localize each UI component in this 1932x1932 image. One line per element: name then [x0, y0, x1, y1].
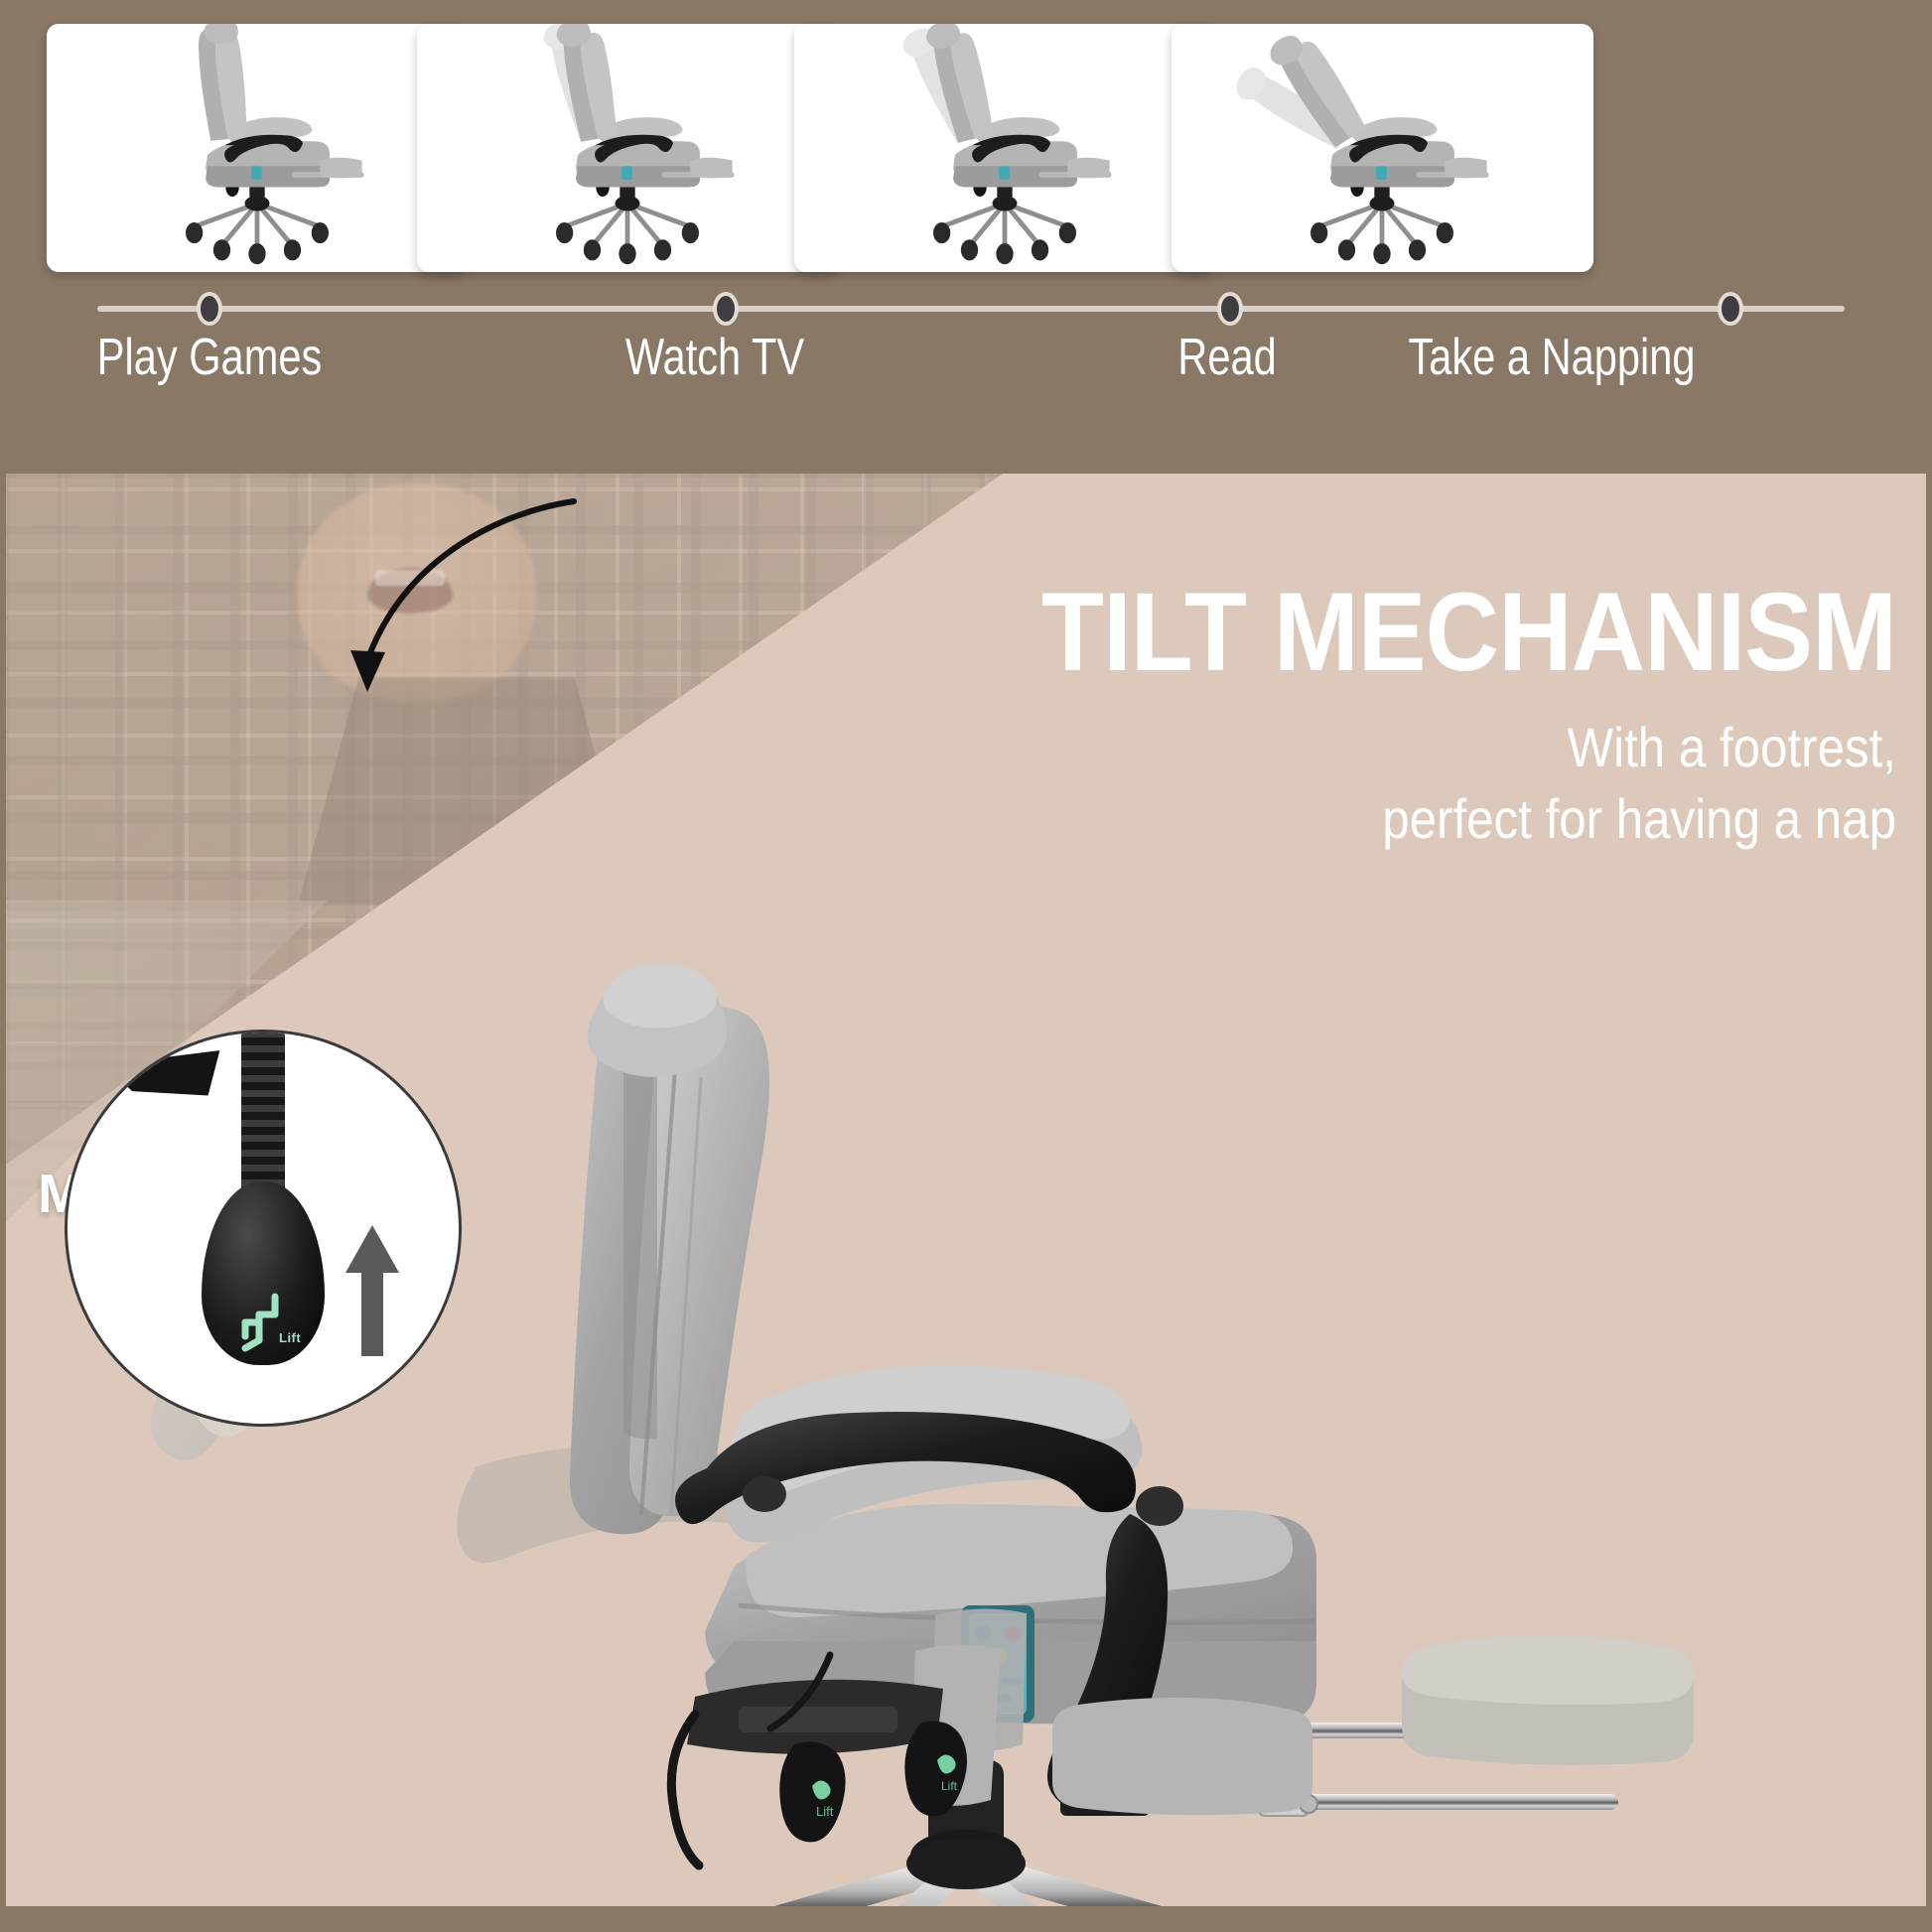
- timeline-rail: [97, 306, 1845, 312]
- subtitle-line-2: perfect for having a nap: [839, 785, 1896, 853]
- right-border-strip: [1926, 0, 1932, 1932]
- timeline-dot-2[interactable]: [713, 292, 739, 326]
- thumbnail-row: [0, 24, 1932, 274]
- main-stage: Max Angle: 135° TILT MECHANISM With a fo…: [0, 474, 1932, 1932]
- page-title: TILT MECHANISM: [791, 577, 1896, 688]
- lever-stem: [241, 1030, 285, 1201]
- timeline-label-row: Play Games Watch TV Read Take a Napping: [0, 328, 1932, 407]
- timeline-dot-1[interactable]: [197, 292, 222, 326]
- thumbnail-card-watch-tv[interactable]: [417, 24, 839, 272]
- svg-text:Lift: Lift: [816, 1804, 834, 1819]
- footrest-cushion: [1402, 1634, 1694, 1764]
- chair-reclined-max-icon: [1172, 24, 1593, 272]
- timeline-dot-4[interactable]: [1718, 292, 1743, 326]
- marketing-infographic: Play Games Watch TV Read Take a Napping …: [0, 0, 1932, 1932]
- subtitle-line-1: With a footrest,: [839, 714, 1896, 781]
- chair-upright-icon: [47, 24, 469, 272]
- thumbnail-card-play-games[interactable]: [47, 24, 469, 272]
- top-band: Play Games Watch TV Read Take a Napping: [0, 0, 1932, 474]
- svg-text:Lift: Lift: [941, 1779, 958, 1793]
- step-timeline: [0, 288, 1932, 328]
- timeline-label-take-a-napping: Take a Napping: [1248, 328, 1857, 387]
- thumbnail-card-take-a-napping[interactable]: [1172, 24, 1593, 272]
- chair-reclined-slight-icon: [417, 24, 839, 272]
- timeline-label-play-games: Play Games: [42, 328, 377, 387]
- bottom-strip: [0, 1906, 1932, 1932]
- chair-reclined-more-icon: [794, 24, 1216, 272]
- thumbnail-card-read[interactable]: [794, 24, 1216, 272]
- headline-block: TILT MECHANISM With a footrest, perfect …: [695, 577, 1896, 854]
- timeline-dot-3[interactable]: [1217, 292, 1243, 326]
- up-arrow-icon: [342, 1221, 403, 1360]
- lift-pictogram-icon: [229, 1289, 297, 1362]
- base-hub: [906, 1838, 1026, 1889]
- chair-headrest: [588, 964, 727, 1077]
- lever-lift-label: Lift: [279, 1330, 301, 1345]
- left-border-strip: [0, 0, 6, 1932]
- lever-closeup-circle: Lift: [65, 1030, 462, 1427]
- footrest-extension-panel: [1052, 1698, 1312, 1815]
